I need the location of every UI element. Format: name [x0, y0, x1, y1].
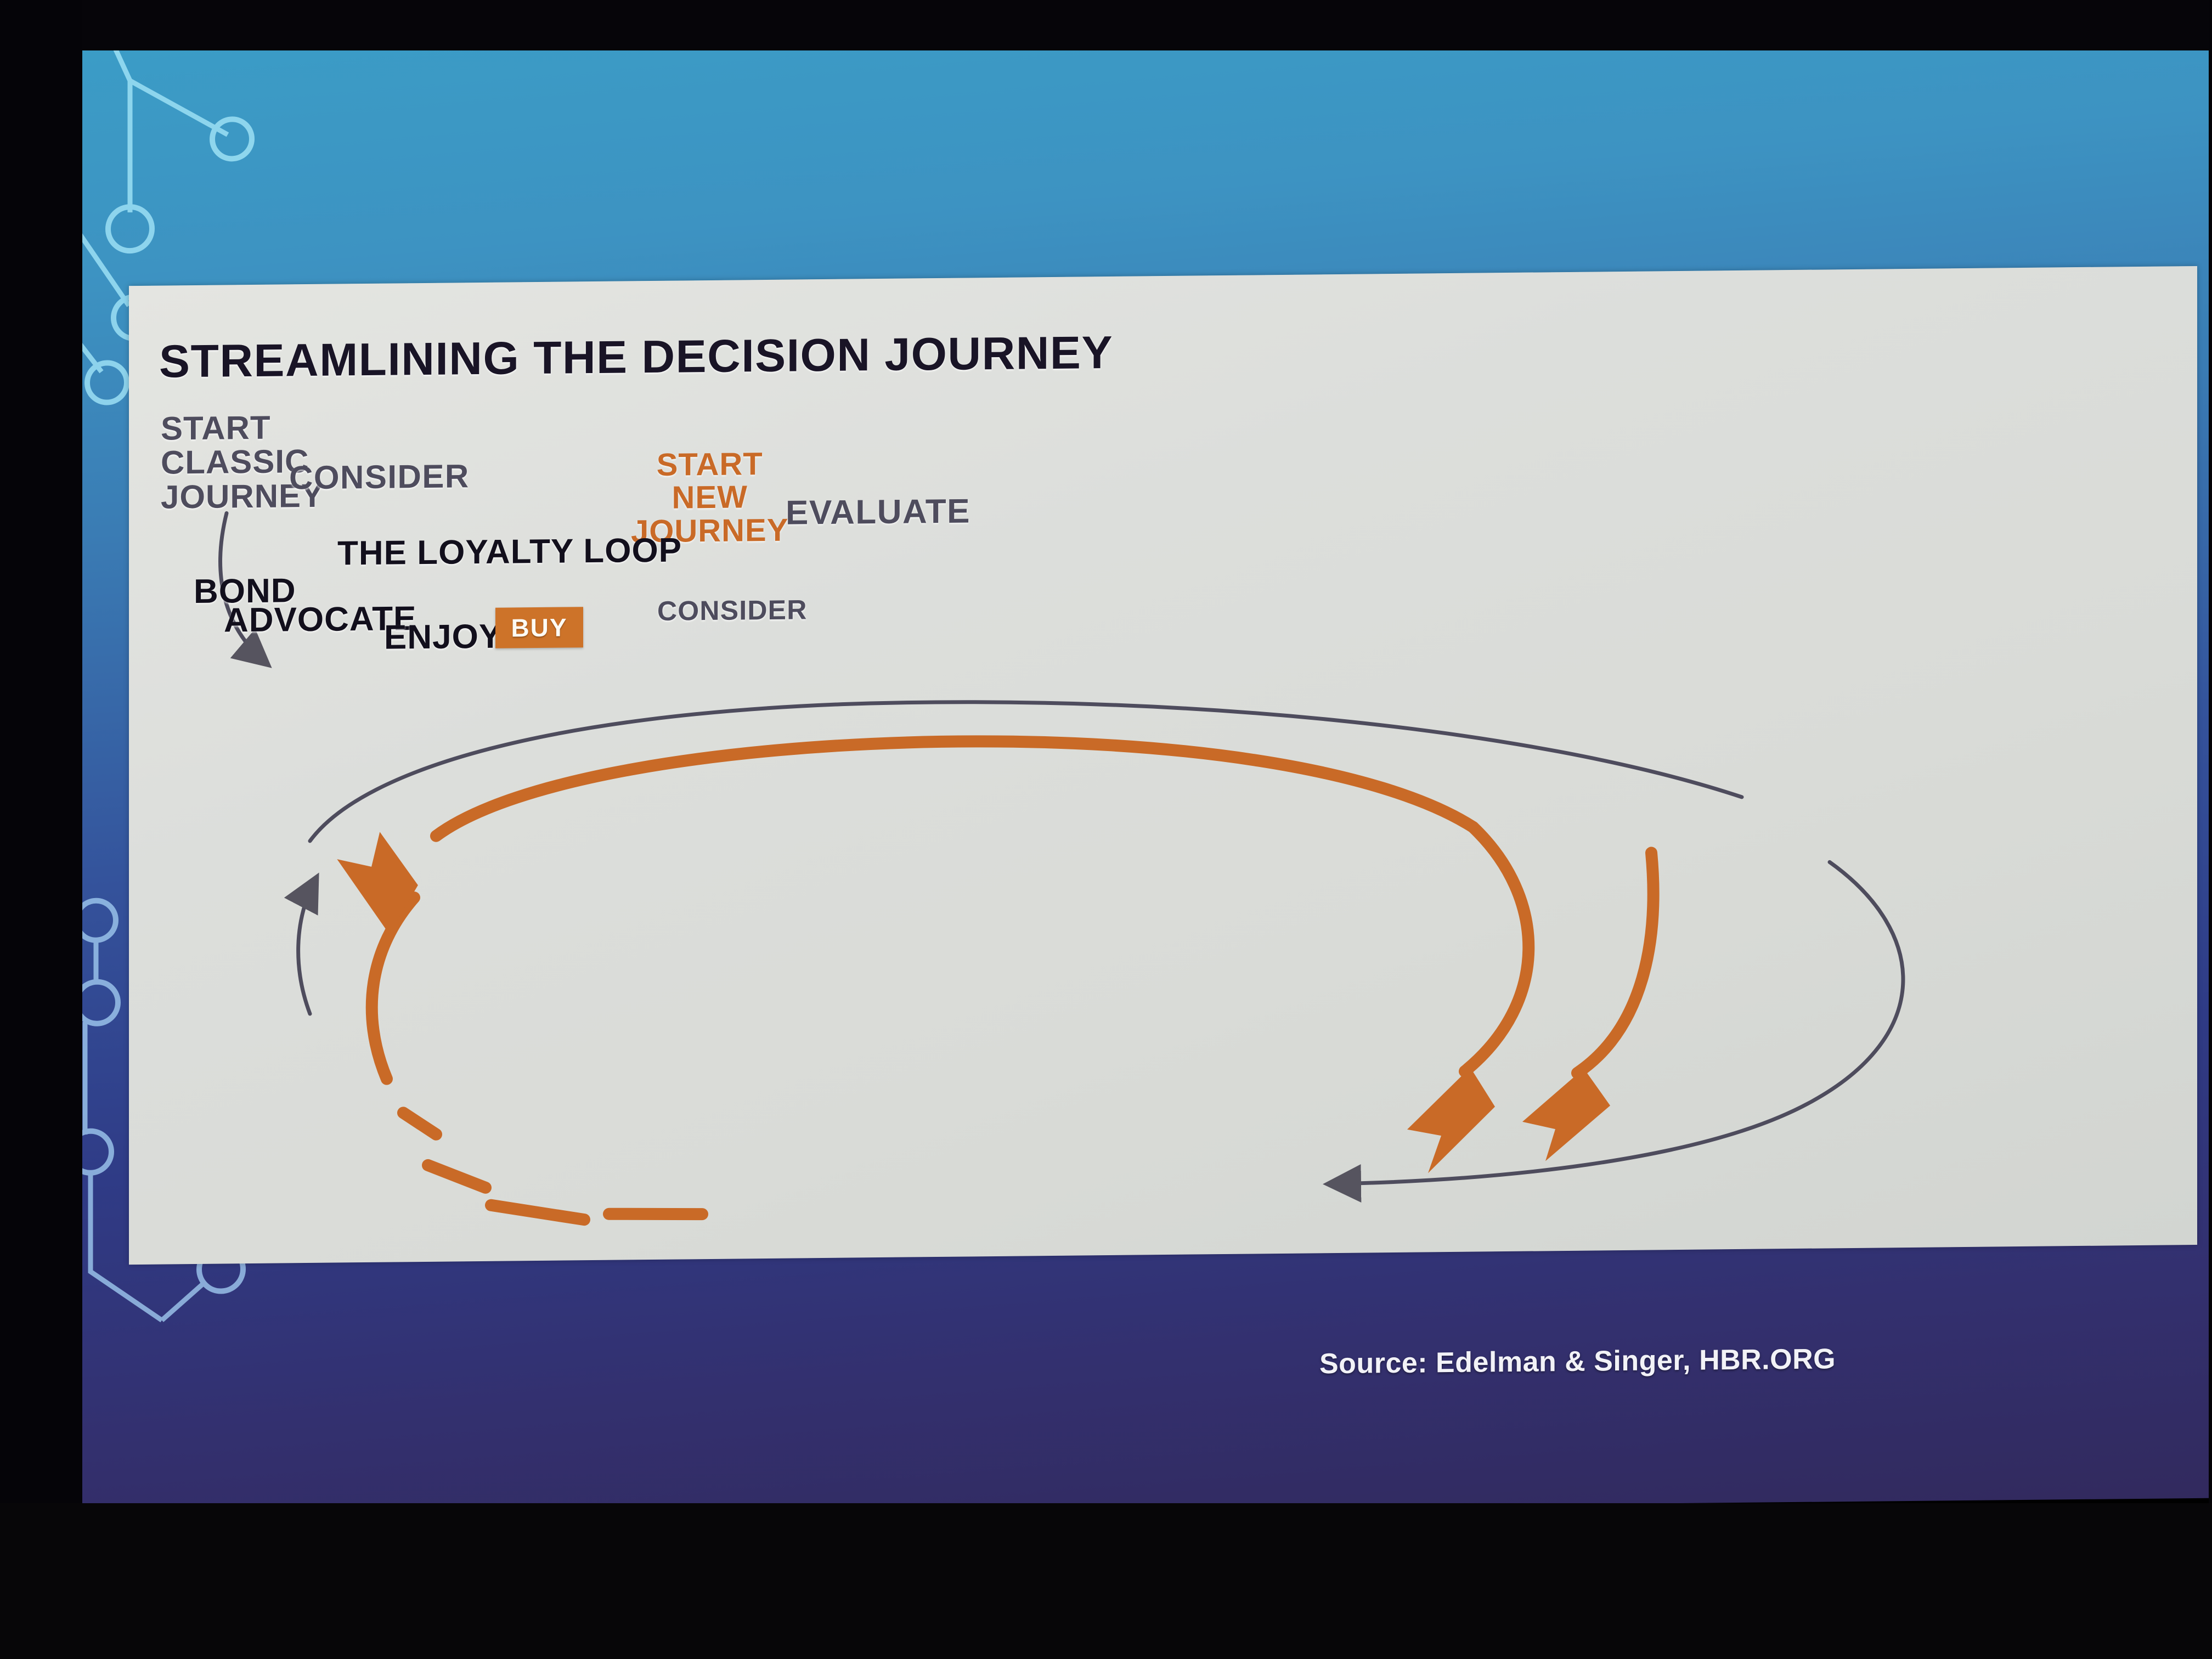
loyalty-loop-left-arrowhead	[337, 830, 431, 934]
panel-inner: STREAMLINING THE DECISION JOURNEY	[129, 266, 2197, 1265]
loyalty-loop-top-arc	[436, 737, 1473, 837]
loyalty-loop-right-arrowhead	[1407, 1067, 1495, 1173]
bezel-top	[0, 0, 2212, 50]
new-journey-consider-label: CONSIDER	[657, 595, 808, 625]
loyalty-loop-label: THE LOYALTY LOOP	[337, 533, 682, 571]
start-new-journey-arc	[1577, 853, 1654, 1073]
buy-label: BUY	[511, 612, 567, 642]
start-new-journey-line-1: START	[631, 448, 788, 482]
buy-node: BUY	[495, 607, 583, 648]
loyalty-loop-advocate-tick	[428, 1165, 486, 1188]
loyalty-loop-buy-tick	[609, 1213, 702, 1215]
decision-journey-diagram	[129, 266, 2197, 1265]
start-classic-journey-line-1: START	[161, 410, 324, 446]
loyalty-loop-bond-tick	[403, 1113, 436, 1135]
classic-consider-label: CONSIDER	[289, 459, 470, 495]
presentation-slide: STREAMLINING THE DECISION JOURNEY	[80, 28, 2212, 1519]
enjoy-label: ENJOY	[384, 619, 502, 656]
classic-journey-left-arc	[298, 879, 315, 1014]
slide-surface: STREAMLINING THE DECISION JOURNEY	[80, 28, 2212, 1519]
bezel-left	[0, 0, 82, 1659]
screenshot-root: STREAMLINING THE DECISION JOURNEY	[0, 0, 2212, 1659]
start-new-journey-arrowhead	[1522, 1068, 1610, 1161]
bezel-right	[2209, 0, 2212, 1659]
classic-journey-top-arc	[310, 695, 1742, 841]
loyalty-loop-right-arc	[1465, 827, 1528, 1071]
start-new-journey-line-2: NEW	[631, 481, 788, 515]
bezel-bottom	[0, 1503, 2212, 1659]
classic-evaluate-label: EVALUATE	[786, 494, 970, 531]
loyalty-loop-enjoy-tick-left	[491, 1204, 584, 1221]
source-attribution: Source: Edelman & Singer, HBR.ORG	[1319, 1342, 1836, 1380]
content-panel: STREAMLINING THE DECISION JOURNEY	[129, 266, 2197, 1265]
